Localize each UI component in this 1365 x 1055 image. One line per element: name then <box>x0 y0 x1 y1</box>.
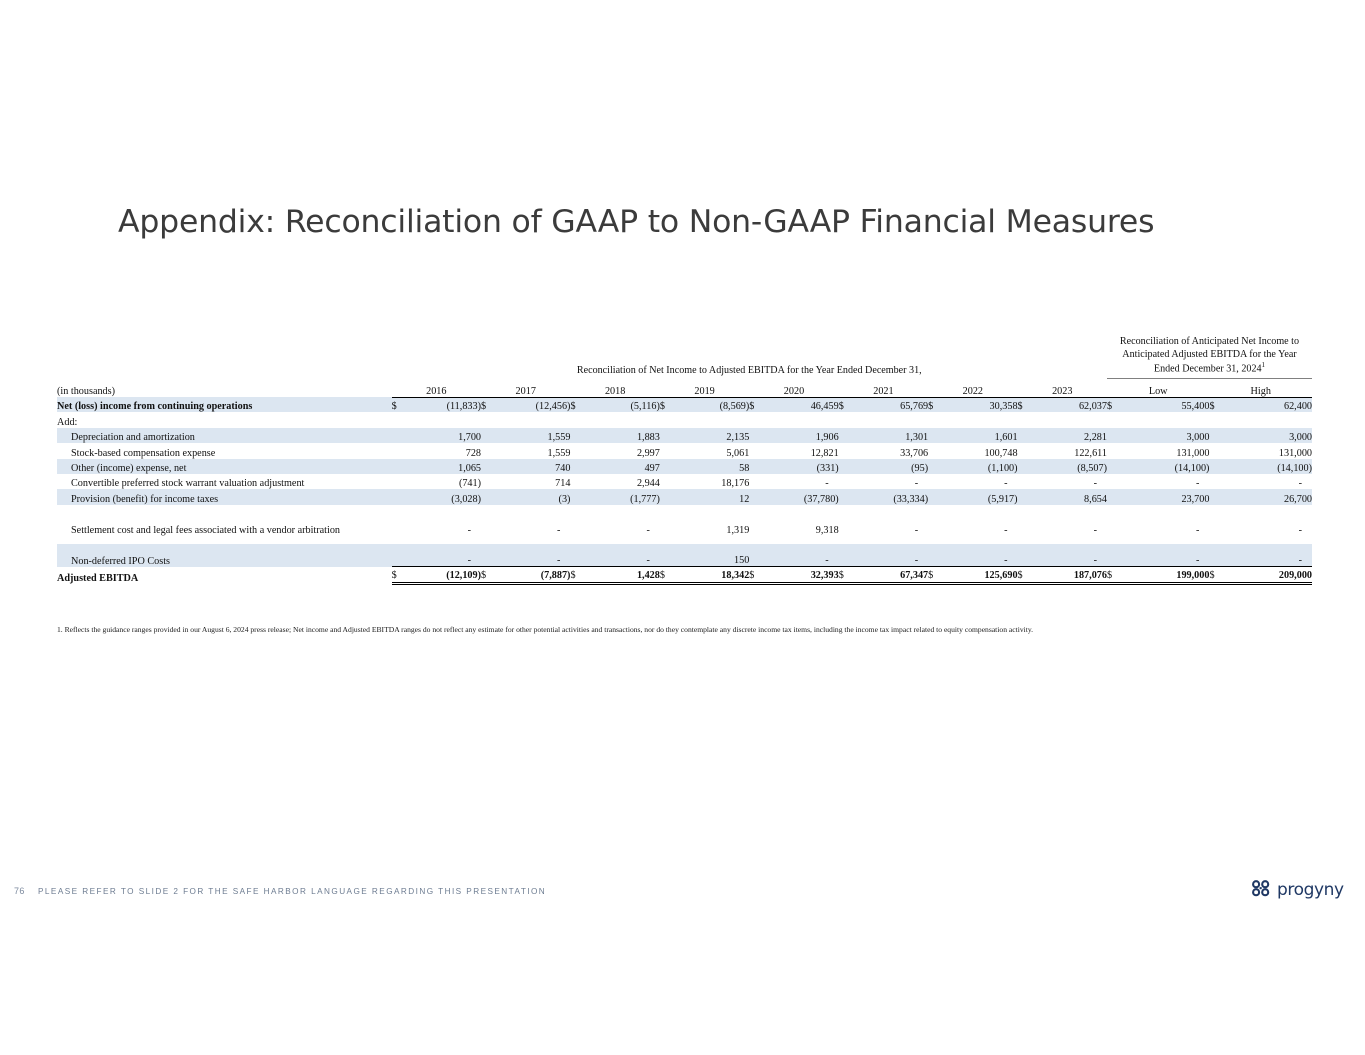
cell-High <box>1227 412 1312 427</box>
currency-symbol-cell <box>392 544 409 567</box>
currency-symbol-cell <box>392 489 409 504</box>
cell-2018: - <box>588 513 660 536</box>
progyny-wordmark: progyny <box>1277 882 1344 899</box>
cell-2016 <box>409 412 481 427</box>
cell-Low: - <box>1124 474 1209 489</box>
cell-2020: - <box>766 474 838 489</box>
currency-symbol-cell <box>928 474 945 489</box>
currency-symbol-cell <box>1107 489 1124 504</box>
currency-symbol-cell <box>1209 443 1226 458</box>
cell-2020: 9,318 <box>766 513 838 536</box>
cell-2016: (741) <box>409 474 481 489</box>
cell-Low: (14,100) <box>1124 459 1209 474</box>
currency-symbol-cell <box>1209 474 1226 489</box>
currency-symbol-cell <box>660 513 677 536</box>
cell-2018: (1,777) <box>588 489 660 504</box>
row-label: Other (income) expense, net <box>57 459 392 474</box>
currency-symbol-cell: $ <box>570 397 587 412</box>
cell-2021: (33,334) <box>856 489 928 504</box>
currency-symbol-cell <box>1107 474 1124 489</box>
cell-2019: 2,135 <box>677 428 749 443</box>
column-header-row: (in thousands) 2016 2017 2018 2019 2020 … <box>57 378 1312 397</box>
currency-symbol-cell <box>1107 428 1124 443</box>
currency-symbol-cell <box>839 489 856 504</box>
currency-symbol-cell <box>660 474 677 489</box>
currency-symbol-cell <box>481 459 498 474</box>
cell-2022: 1,601 <box>945 428 1017 443</box>
currency-symbol-cell <box>749 474 766 489</box>
currency-symbol-cell <box>660 443 677 458</box>
cell-2016: - <box>409 513 481 536</box>
currency-symbol-cell <box>570 513 587 536</box>
currency-symbol-cell <box>392 513 409 536</box>
currency-symbol-cell <box>570 443 587 458</box>
cell-2020: 46,459 <box>766 397 838 412</box>
cell-2016: (11,833) <box>409 397 481 412</box>
group-header-guidance-text: Reconciliation of Anticipated Net Income… <box>1120 336 1299 375</box>
cell-Low: - <box>1124 513 1209 536</box>
cell-2018: 1,883 <box>588 428 660 443</box>
total-currency-symbol-cell: $ <box>1209 567 1226 584</box>
currency-symbol-cell <box>839 474 856 489</box>
total-cell-2016: (12,109) <box>409 567 481 584</box>
cell-2022 <box>945 412 1017 427</box>
cell-2018: 2,944 <box>588 474 660 489</box>
table-row: Add: <box>57 412 1312 427</box>
progyny-clover-icon <box>1250 878 1272 903</box>
column-header-2022: 2022 <box>928 378 1017 397</box>
table-body: Reconciliation of Net Income to Adjusted… <box>57 330 1312 584</box>
cell-2022: 30,358 <box>945 397 1017 412</box>
currency-symbol-cell: $ <box>749 397 766 412</box>
safe-harbor-notice: PLEASE REFER TO SLIDE 2 FOR THE SAFE HAR… <box>38 887 546 896</box>
total-cell-2022: 125,690 <box>945 567 1017 584</box>
table-row: Other (income) expense, net1,06574049758… <box>57 459 1312 474</box>
progyny-logo: progyny <box>1250 878 1344 903</box>
cell-2021: 33,706 <box>856 443 928 458</box>
cell-2022: - <box>945 474 1017 489</box>
cell-Low: 55,400 <box>1124 397 1209 412</box>
table-row: Settlement cost and legal fees associate… <box>57 513 1312 536</box>
total-cell-2019: 18,342 <box>677 567 749 584</box>
cell-2021: - <box>856 474 928 489</box>
cell-2020: (331) <box>766 459 838 474</box>
total-row-label: Adjusted EBITDA <box>57 567 392 584</box>
cell-2019 <box>677 412 749 427</box>
cell-2017: (3) <box>498 489 570 504</box>
cell-2023: 62,037 <box>1035 397 1107 412</box>
currency-symbol-cell <box>1107 544 1124 567</box>
column-header-2016: 2016 <box>392 378 481 397</box>
row-spacer <box>57 536 1312 544</box>
currency-symbol-cell <box>570 544 587 567</box>
cell-2022: 100,748 <box>945 443 1017 458</box>
page-number: 76 <box>14 886 25 896</box>
row-label: Provision (benefit) for income taxes <box>57 489 392 504</box>
currency-symbol-cell <box>1018 428 1035 443</box>
total-currency-symbol-cell: $ <box>570 567 587 584</box>
row-label: Non-deferred IPO Costs <box>57 544 392 567</box>
currency-symbol-cell <box>1209 459 1226 474</box>
currency-symbol-cell <box>660 428 677 443</box>
row-spacer-cell <box>57 505 1312 513</box>
cell-2022: - <box>945 544 1017 567</box>
total-cell-Low: 199,000 <box>1124 567 1209 584</box>
currency-symbol-cell <box>481 443 498 458</box>
cell-2023: 8,654 <box>1035 489 1107 504</box>
currency-symbol-cell <box>660 489 677 504</box>
currency-symbol-cell: $ <box>1209 397 1226 412</box>
cell-2020: - <box>766 544 838 567</box>
reconciliation-table: Reconciliation of Net Income to Adjusted… <box>57 330 1312 585</box>
currency-symbol-cell <box>928 428 945 443</box>
cell-2020: 12,821 <box>766 443 838 458</box>
currency-symbol-cell <box>1209 489 1226 504</box>
currency-symbol-cell: $ <box>839 397 856 412</box>
currency-symbol-cell <box>481 489 498 504</box>
cell-2018 <box>588 412 660 427</box>
cell-High: (14,100) <box>1227 459 1312 474</box>
total-currency-symbol-cell: $ <box>1107 567 1124 584</box>
cell-2021: 65,769 <box>856 397 928 412</box>
cell-2023 <box>1035 412 1107 427</box>
currency-symbol-cell <box>1107 443 1124 458</box>
total-cell-2020: 32,393 <box>766 567 838 584</box>
cell-2017: 714 <box>498 474 570 489</box>
currency-symbol-cell <box>1209 428 1226 443</box>
currency-symbol-cell: $ <box>1107 397 1124 412</box>
total-cell-2021: 67,347 <box>856 567 928 584</box>
currency-symbol-cell <box>481 544 498 567</box>
column-header-2017: 2017 <box>481 378 570 397</box>
currency-symbol-cell <box>749 544 766 567</box>
currency-symbol-cell <box>839 428 856 443</box>
table-row: Convertible preferred stock warrant valu… <box>57 474 1312 489</box>
cell-2020 <box>766 412 838 427</box>
cell-Low: - <box>1124 544 1209 567</box>
cell-Low: 3,000 <box>1124 428 1209 443</box>
table-row: Stock-based compensation expense7281,559… <box>57 443 1312 458</box>
currency-symbol-cell <box>928 412 945 427</box>
currency-symbol-cell <box>1018 489 1035 504</box>
financial-reconciliation-table: Reconciliation of Net Income to Adjusted… <box>57 330 1312 585</box>
currency-symbol-cell <box>481 474 498 489</box>
cell-2020: (37,780) <box>766 489 838 504</box>
currency-symbol-cell <box>749 443 766 458</box>
cell-Low: 23,700 <box>1124 489 1209 504</box>
guidance-footnote-marker: 1 <box>1262 361 1266 369</box>
slide-canvas: Appendix: Reconciliation of GAAP to Non-… <box>0 0 1365 1055</box>
row-label: Settlement cost and legal fees associate… <box>57 513 392 536</box>
cell-2022: - <box>945 513 1017 536</box>
group-header-row: Reconciliation of Net Income to Adjusted… <box>57 330 1312 378</box>
row-label: Stock-based compensation expense <box>57 443 392 458</box>
currency-symbol-cell <box>839 513 856 536</box>
currency-symbol-cell <box>1209 544 1226 567</box>
page-title: Appendix: Reconciliation of GAAP to Non-… <box>118 204 1268 240</box>
currency-symbol-cell: $ <box>481 397 498 412</box>
cell-2017: - <box>498 544 570 567</box>
cell-2017 <box>498 412 570 427</box>
currency-symbol-cell <box>570 489 587 504</box>
total-currency-symbol-cell: $ <box>660 567 677 584</box>
currency-symbol-cell <box>1107 412 1124 427</box>
cell-2018: 2,997 <box>588 443 660 458</box>
currency-symbol-cell: $ <box>1018 397 1035 412</box>
currency-symbol-cell <box>481 428 498 443</box>
currency-symbol-cell <box>1018 544 1035 567</box>
group-header-historical: Reconciliation of Net Income to Adjusted… <box>392 330 1107 378</box>
cell-2021: 1,301 <box>856 428 928 443</box>
cell-2019: 1,319 <box>677 513 749 536</box>
cell-High: 3,000 <box>1227 428 1312 443</box>
total-currency-symbol-cell: $ <box>1018 567 1035 584</box>
currency-symbol-cell <box>392 428 409 443</box>
total-currency-symbol-cell: $ <box>392 567 409 584</box>
currency-symbol-cell <box>660 544 677 567</box>
cell-2016: 728 <box>409 443 481 458</box>
column-header-2018: 2018 <box>570 378 659 397</box>
column-header-2023: 2023 <box>1018 378 1107 397</box>
currency-symbol-cell <box>1209 412 1226 427</box>
cell-High: 26,700 <box>1227 489 1312 504</box>
cell-2021: (95) <box>856 459 928 474</box>
cell-2016: (3,028) <box>409 489 481 504</box>
currency-symbol-cell <box>749 489 766 504</box>
currency-symbol-cell: $ <box>392 397 409 412</box>
column-header-2021: 2021 <box>839 378 928 397</box>
currency-symbol-cell <box>928 443 945 458</box>
spacer-cell <box>57 330 392 378</box>
currency-symbol-cell <box>660 412 677 427</box>
cell-High: 62,400 <box>1227 397 1312 412</box>
currency-symbol-cell <box>481 412 498 427</box>
currency-symbol-cell <box>570 459 587 474</box>
cell-High: 131,000 <box>1227 443 1312 458</box>
cell-2017: (12,456) <box>498 397 570 412</box>
currency-symbol-cell <box>1018 459 1035 474</box>
currency-symbol-cell <box>749 513 766 536</box>
currency-symbol-cell <box>839 459 856 474</box>
currency-symbol-cell: $ <box>660 397 677 412</box>
row-label: Convertible preferred stock warrant valu… <box>57 474 392 489</box>
row-label: Add: <box>57 412 392 427</box>
column-header-high: High <box>1209 378 1312 397</box>
row-label: Depreciation and amortization <box>57 428 392 443</box>
currency-symbol-cell <box>570 428 587 443</box>
cell-2019: 18,176 <box>677 474 749 489</box>
cell-2019: 5,061 <box>677 443 749 458</box>
currency-symbol-cell <box>392 412 409 427</box>
currency-symbol-cell <box>660 459 677 474</box>
currency-symbol-cell <box>1018 443 1035 458</box>
currency-symbol-cell <box>749 428 766 443</box>
units-label: (in thousands) <box>57 378 392 397</box>
currency-symbol-cell <box>1107 459 1124 474</box>
currency-symbol-cell <box>570 474 587 489</box>
cell-2018: 497 <box>588 459 660 474</box>
currency-symbol-cell <box>928 489 945 504</box>
total-row: Adjusted EBITDA$(12,109)$(7,887)$1,428$1… <box>57 567 1312 584</box>
cell-2022: (1,100) <box>945 459 1017 474</box>
currency-symbol-cell <box>1209 513 1226 536</box>
currency-symbol-cell <box>570 412 587 427</box>
total-cell-2018: 1,428 <box>588 567 660 584</box>
cell-2018: - <box>588 544 660 567</box>
cell-2017: 1,559 <box>498 428 570 443</box>
cell-2022: (5,917) <box>945 489 1017 504</box>
cell-2020: 1,906 <box>766 428 838 443</box>
cell-2021: - <box>856 513 928 536</box>
cell-2016: - <box>409 544 481 567</box>
total-cell-2017: (7,887) <box>498 567 570 584</box>
currency-symbol-cell <box>1107 513 1124 536</box>
row-label: Net (loss) income from continuing operat… <box>57 397 392 412</box>
cell-2023: 122,611 <box>1035 443 1107 458</box>
cell-2021 <box>856 412 928 427</box>
cell-2023: - <box>1035 474 1107 489</box>
group-header-guidance-cell: Reconciliation of Anticipated Net Income… <box>1107 330 1312 378</box>
cell-2018: (5,116) <box>588 397 660 412</box>
currency-symbol-cell <box>481 513 498 536</box>
currency-symbol-cell <box>839 544 856 567</box>
currency-symbol-cell <box>839 443 856 458</box>
currency-symbol-cell <box>1018 513 1035 536</box>
currency-symbol-cell <box>392 459 409 474</box>
cell-2019: (8,569) <box>677 397 749 412</box>
currency-symbol-cell <box>928 459 945 474</box>
currency-symbol-cell <box>839 412 856 427</box>
footnote: 1. Reflects the guidance ranges provided… <box>57 624 1319 636</box>
row-spacer <box>57 505 1312 513</box>
cell-2019: 12 <box>677 489 749 504</box>
cell-2017: - <box>498 513 570 536</box>
cell-2019: 150 <box>677 544 749 567</box>
cell-High: - <box>1227 474 1312 489</box>
currency-symbol-cell <box>928 513 945 536</box>
currency-symbol-cell: $ <box>928 397 945 412</box>
cell-2016: 1,065 <box>409 459 481 474</box>
cell-High: - <box>1227 544 1312 567</box>
table-row: Non-deferred IPO Costs---150------ <box>57 544 1312 567</box>
cell-2021: - <box>856 544 928 567</box>
table-row: Net (loss) income from continuing operat… <box>57 397 1312 412</box>
cell-2023: (8,507) <box>1035 459 1107 474</box>
column-header-low: Low <box>1107 378 1209 397</box>
total-cell-High: 209,000 <box>1227 567 1312 584</box>
total-cell-2023: 187,076 <box>1035 567 1107 584</box>
column-header-2019: 2019 <box>660 378 749 397</box>
cell-2023: - <box>1035 544 1107 567</box>
total-currency-symbol-cell: $ <box>928 567 945 584</box>
cell-2017: 1,559 <box>498 443 570 458</box>
column-header-2020: 2020 <box>749 378 838 397</box>
cell-2016: 1,700 <box>409 428 481 443</box>
total-currency-symbol-cell: $ <box>839 567 856 584</box>
row-spacer-cell <box>57 536 1312 544</box>
cell-2017: 740 <box>498 459 570 474</box>
currency-symbol-cell <box>749 459 766 474</box>
cell-2023: - <box>1035 513 1107 536</box>
total-currency-symbol-cell: $ <box>749 567 766 584</box>
total-currency-symbol-cell: $ <box>481 567 498 584</box>
cell-2019: 58 <box>677 459 749 474</box>
table-row: Depreciation and amortization1,7001,5591… <box>57 428 1312 443</box>
currency-symbol-cell <box>1018 474 1035 489</box>
cell-2023: 2,281 <box>1035 428 1107 443</box>
currency-symbol-cell <box>1018 412 1035 427</box>
currency-symbol-cell <box>749 412 766 427</box>
cell-High: - <box>1227 513 1312 536</box>
currency-symbol-cell <box>928 544 945 567</box>
table-row: Provision (benefit) for income taxes(3,0… <box>57 489 1312 504</box>
cell-Low: 131,000 <box>1124 443 1209 458</box>
cell-Low <box>1124 412 1209 427</box>
currency-symbol-cell <box>392 474 409 489</box>
currency-symbol-cell <box>392 443 409 458</box>
